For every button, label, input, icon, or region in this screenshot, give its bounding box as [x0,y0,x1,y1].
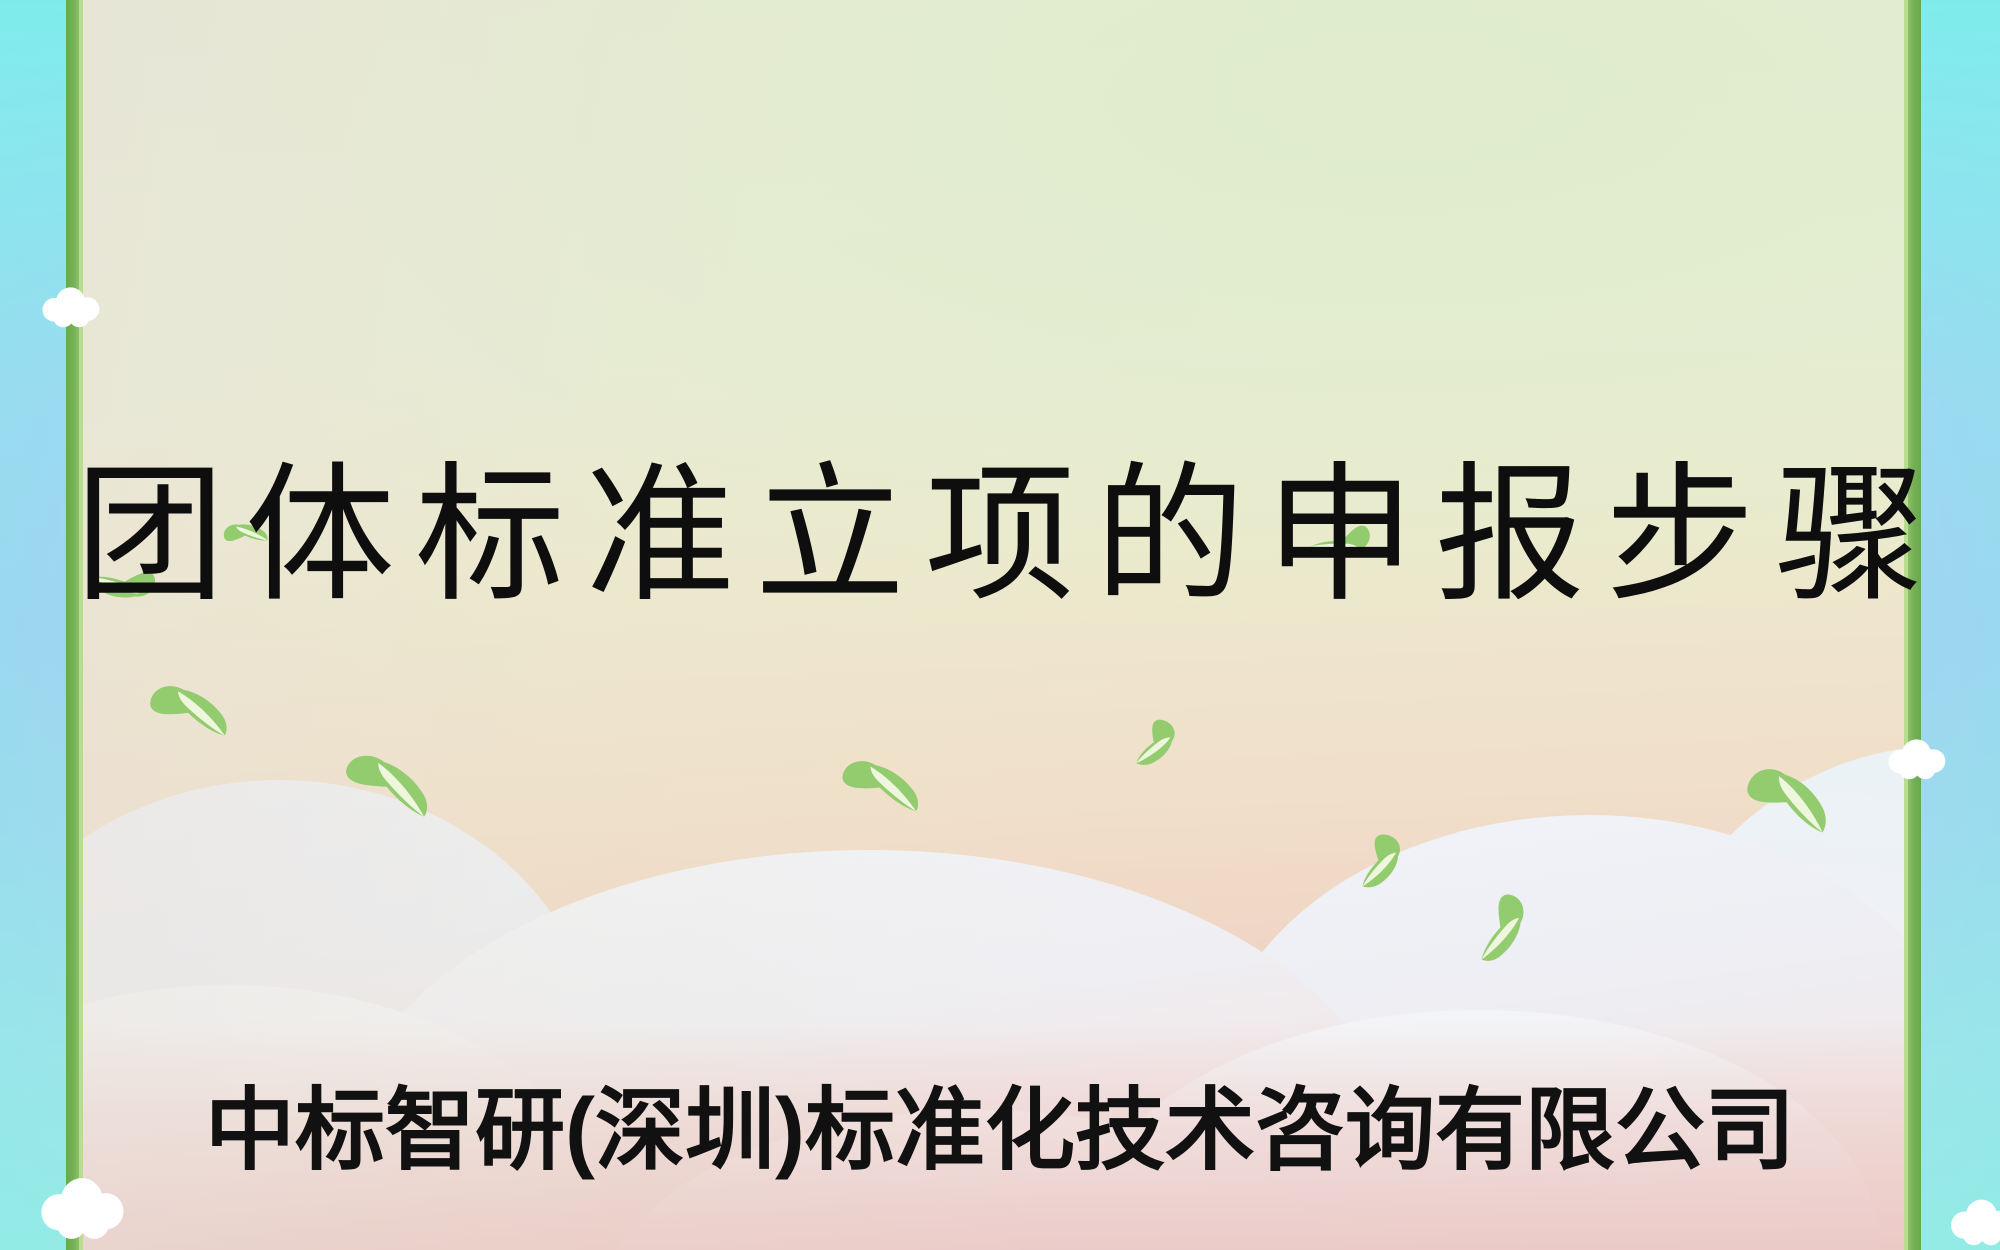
page-title: 团体标准立项的申报步骤 [0,462,2000,612]
presentation-slide: 团体标准立项的申报步骤 中标智研(深圳)标准化技术咨询有限公司 [0,0,2000,1250]
left-green-border [66,0,79,1250]
cloud-left-bottom-icon [32,1176,136,1240]
leaf-lower-right-icon [1355,830,1407,892]
right-green-border [1908,0,1921,1250]
slide-content-panel [79,0,1908,1250]
cloud-right-mid-icon [1882,738,1954,780]
company-name-subtitle: 中标智研(深圳)标准化技术咨询有限公司 [0,1086,2000,1176]
left-border-highlight [79,0,83,1250]
cloud-left-upper-icon [36,286,108,328]
cloud-right-bottom-icon [1944,1198,2000,1246]
right-border-highlight [1904,0,1908,1250]
